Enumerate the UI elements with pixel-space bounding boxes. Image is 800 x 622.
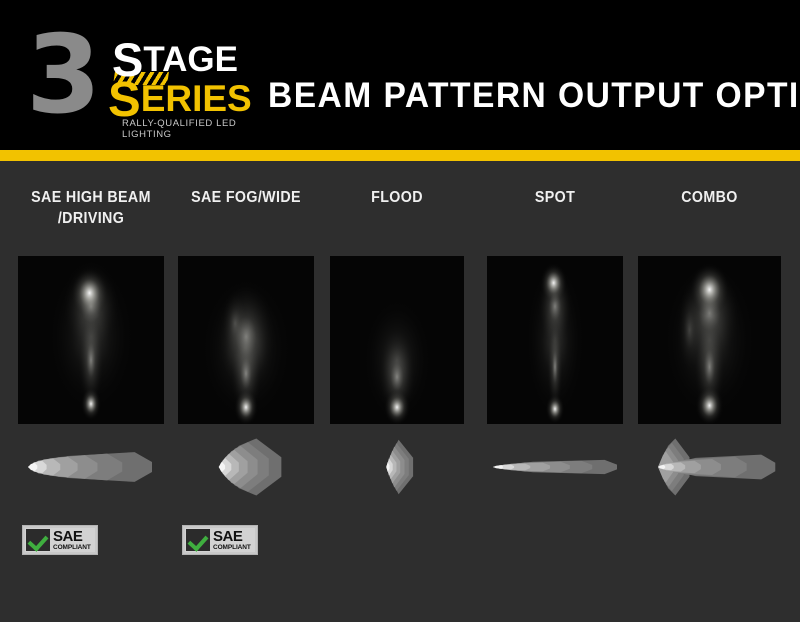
column-label-spot: SPOT bbox=[492, 187, 617, 208]
yellow-divider-bar bbox=[0, 150, 800, 161]
beam-column-sae-fog-wide: SAE FOG/WIDESAECOMPLIANT bbox=[178, 161, 314, 622]
sae-badge-sub-text: COMPLIANT bbox=[213, 545, 251, 552]
column-label-line1: COMBO bbox=[644, 187, 776, 208]
green-check-icon bbox=[186, 529, 210, 551]
logo-stage-rest: TAGE bbox=[143, 40, 238, 79]
beam-column-combo: COMBO bbox=[638, 161, 781, 622]
sae-badge-main-text: SAE bbox=[53, 529, 91, 544]
beam-spread-diagram-combo bbox=[638, 436, 781, 498]
beam-photo-sae-high-beam-driving bbox=[18, 256, 164, 424]
beam-spread-diagram-sae-high-beam-driving bbox=[18, 436, 164, 498]
header-bar: 3 STAGE SERIES RALLY-QUALIFIED LED LIGHT… bbox=[0, 0, 800, 150]
sae-compliant-badge: SAECOMPLIANT bbox=[22, 525, 98, 555]
sae-badge-sub-text: COMPLIANT bbox=[53, 545, 91, 552]
column-label-line1: SAE HIGH BEAM bbox=[24, 187, 158, 208]
beam-spread-diagram-sae-fog-wide bbox=[178, 436, 314, 498]
logo-numeral-3: 3 bbox=[26, 22, 97, 130]
logo-word-series: SERIES bbox=[108, 80, 252, 119]
column-label-sae-high-beam-driving: SAE HIGH BEAM/DRIVING bbox=[24, 187, 158, 229]
sae-badge-main-text: SAE bbox=[213, 529, 251, 544]
column-label-line2: /DRIVING bbox=[24, 208, 158, 229]
column-label-line1: SAE FOG/WIDE bbox=[183, 187, 308, 208]
beam-column-sae-high-beam-driving: SAE HIGH BEAM/DRIVINGSAECOMPLIANT bbox=[18, 161, 164, 622]
column-label-flood: FLOOD bbox=[335, 187, 458, 208]
column-label-line1: SPOT bbox=[492, 187, 617, 208]
beam-spread-diagram-flood bbox=[330, 436, 464, 498]
diode-dynamics-stage-series-logo: 3 STAGE SERIES RALLY-QUALIFIED LED LIGHT… bbox=[26, 28, 261, 128]
column-label-combo: COMBO bbox=[644, 187, 776, 208]
beam-photo-flood bbox=[330, 256, 464, 424]
beam-photo-sae-fog-wide bbox=[178, 256, 314, 424]
beam-column-flood: FLOOD bbox=[330, 161, 464, 622]
column-label-line1: FLOOD bbox=[335, 187, 458, 208]
beam-column-spot: SPOT bbox=[487, 161, 623, 622]
column-label-sae-fog-wide: SAE FOG/WIDE bbox=[183, 187, 308, 208]
page-title: BEAM PATTERN OUTPUT OPTIONS bbox=[268, 76, 800, 116]
beam-spread-diagram-spot bbox=[487, 436, 623, 498]
beam-pattern-chart: 3 STAGE SERIES RALLY-QUALIFIED LED LIGHT… bbox=[0, 0, 800, 622]
logo-series-rest: ERIES bbox=[141, 78, 252, 119]
green-check-icon bbox=[26, 529, 50, 551]
beam-photo-spot bbox=[487, 256, 623, 424]
sae-compliant-badge: SAECOMPLIANT bbox=[182, 525, 258, 555]
beam-photo-combo bbox=[638, 256, 781, 424]
logo-word-stage: STAGE bbox=[112, 42, 238, 77]
logo-tagline: RALLY-QUALIFIED LED LIGHTING bbox=[122, 118, 261, 140]
